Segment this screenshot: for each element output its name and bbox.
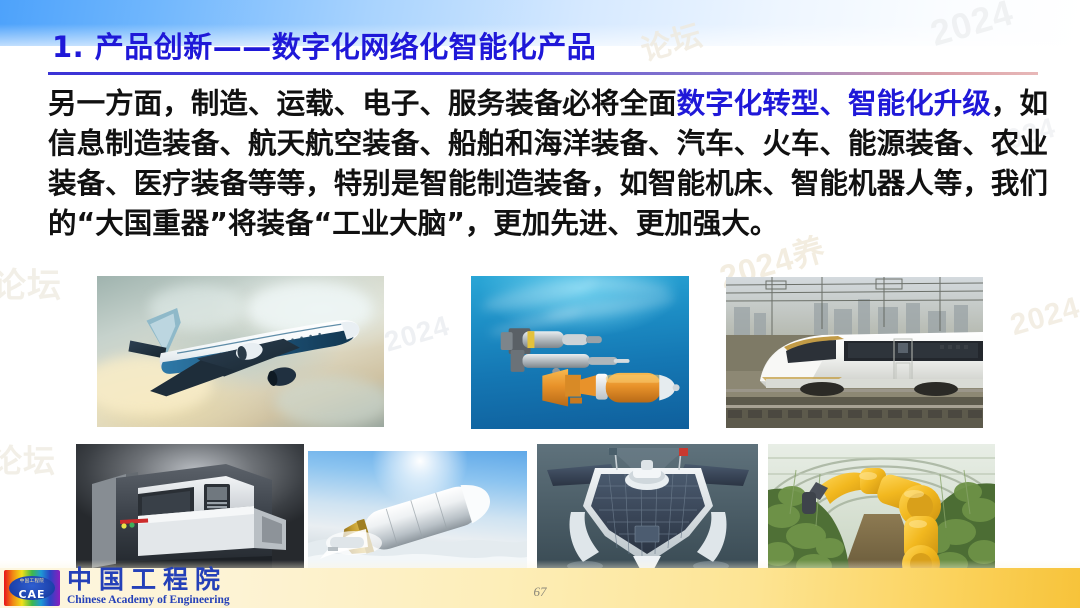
slide-canvas: 2024 论坛 2024养 论坛 论坛 2024 2024 2024 1. 产品… (0, 0, 1080, 608)
underwater-background (471, 276, 689, 429)
body-paragraph: 另一方面，制造、运载、电子、服务装备必将全面数字化转型、智能化升级，如信息制造装… (48, 84, 1048, 244)
watermark-year-center: 2024 (381, 309, 454, 358)
organization-logo-block: 中国工程院 CAE 中国工程院 Chinese Academy of Engin… (4, 567, 230, 607)
body-segment-highlight: 数字化转型、智能化升级 (677, 87, 991, 120)
slide-title-wrap: 1. 产品创新——数字化网络化智能化产品 (52, 24, 596, 66)
airplane-photo (97, 276, 384, 427)
train-illustration (726, 277, 983, 428)
organization-name-cn: 中国工程院 (67, 567, 230, 592)
airliner-illustration (114, 303, 367, 409)
watermark-forum-left: 论坛 (0, 258, 62, 307)
cae-emblem-acronym: CAE (4, 589, 60, 600)
watermark-year-right: 2024 (1007, 291, 1080, 343)
airplane-sky-background (97, 276, 384, 427)
train-background (726, 277, 983, 428)
underwater-vehicle-photo (471, 276, 689, 429)
page-title: 1. 产品创新——数字化网络化智能化产品 (52, 24, 596, 66)
title-underline-rule (48, 72, 1038, 75)
organization-name-block: 中国工程院 Chinese Academy of Engineering (67, 567, 230, 607)
cae-emblem-cn-label: 中国工程院 (4, 579, 60, 584)
organization-name-en: Chinese Academy of Engineering (67, 595, 230, 607)
body-segment-1: 另一方面，制造、运载、电子、服务装备必将全面 (48, 87, 677, 120)
high-speed-train-photo (726, 277, 983, 428)
auv-illustration (471, 276, 689, 429)
cae-emblem-icon: 中国工程院 CAE (4, 570, 60, 606)
watermark-forum-lowerleft: 论坛 (0, 436, 56, 482)
